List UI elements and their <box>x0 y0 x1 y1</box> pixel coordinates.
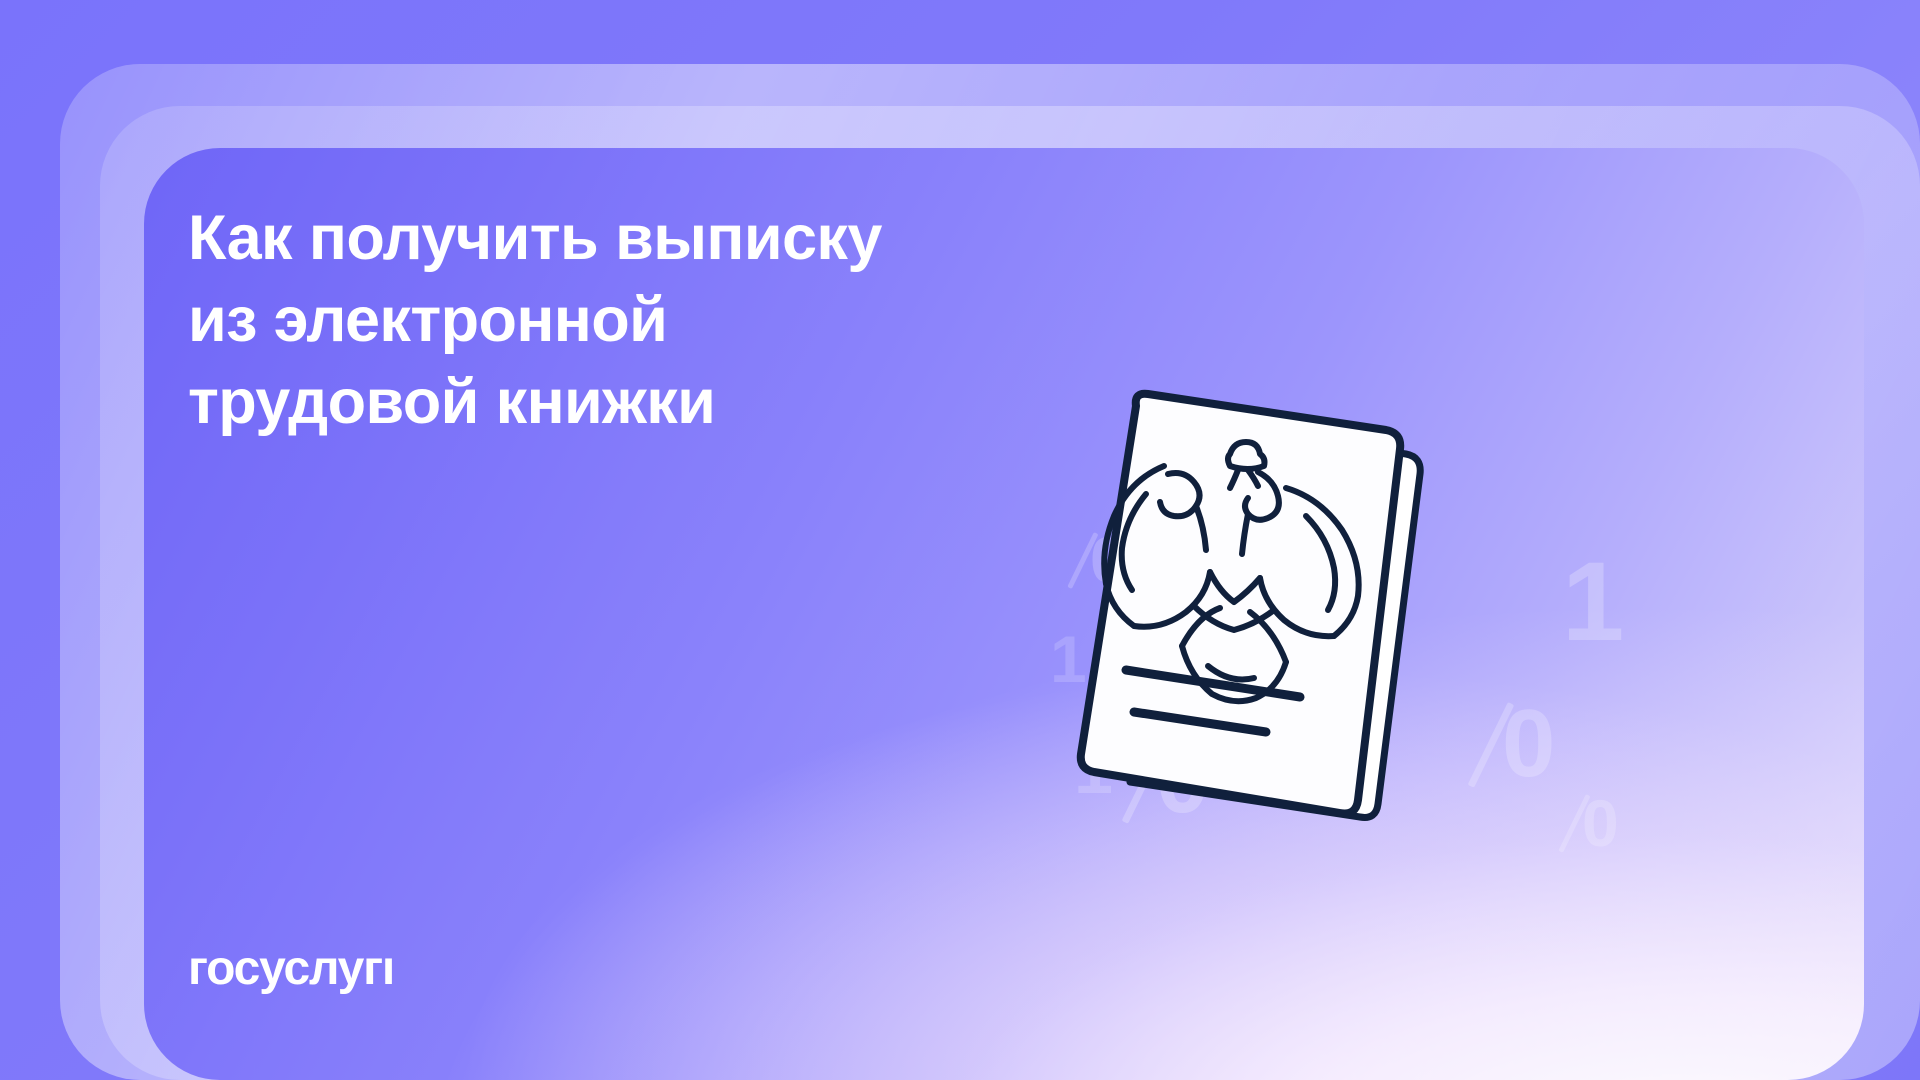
binary-digit: 1 <box>1562 546 1624 658</box>
binary-digit: 0 <box>1502 696 1555 792</box>
binary-digit: 0 <box>1582 790 1619 856</box>
work-record-book-illustration <box>1034 358 1454 858</box>
gosuslugi-logo: госуслугı <box>188 941 394 996</box>
promo-card: 011010111000 Как получить выписку из эле… <box>144 148 1864 1080</box>
brand-text: госуслуг <box>188 941 382 996</box>
banner-canvas: 011010111000 Как получить выписку из эле… <box>0 0 1920 1080</box>
brand-dotless-i: ı <box>382 941 394 996</box>
book-front-cover <box>1081 394 1400 814</box>
